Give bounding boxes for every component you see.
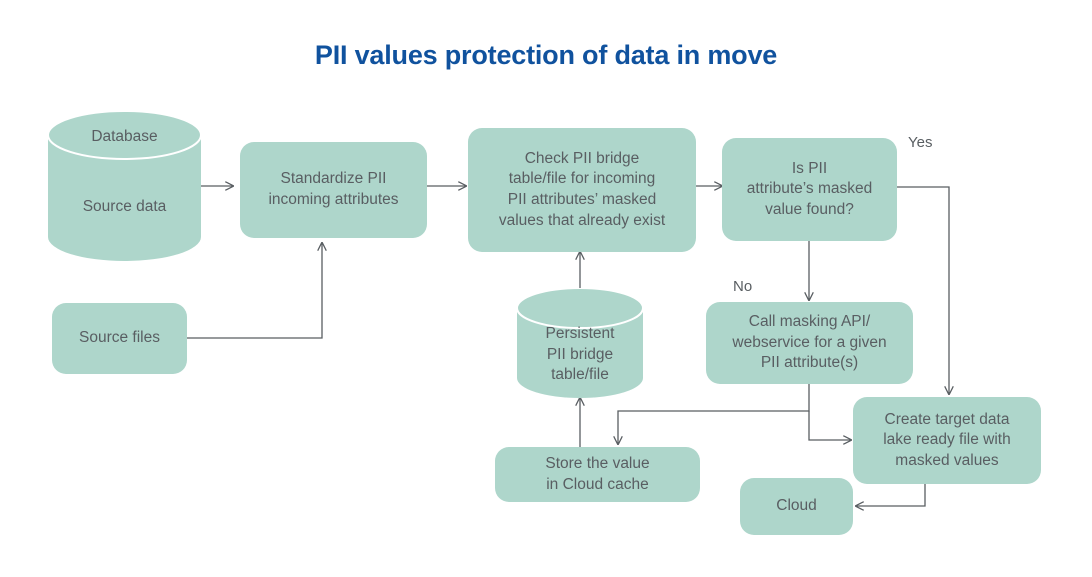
node-call-masking-api[interactable]: Call masking API/ webservice for a given… bbox=[706, 302, 913, 384]
edge-create-to-cloud bbox=[856, 484, 925, 506]
node-standardize[interactable]: Standardize PII incoming attributes bbox=[240, 142, 427, 238]
edge-callmasking-to-store bbox=[618, 384, 809, 444]
node-store-cloud-cache[interactable]: Store the value in Cloud cache bbox=[495, 447, 700, 502]
edge-callmasking-to-create bbox=[809, 411, 851, 440]
source-database-top-label: Database bbox=[48, 127, 201, 148]
flowchart-canvas: PII values protection of data in move bbox=[0, 0, 1092, 577]
node-decision-masked-found[interactable]: Is PII attribute’s masked value found? bbox=[722, 138, 897, 241]
source-database-body-label: Source data bbox=[48, 197, 201, 218]
node-source-database[interactable]: Database Source data bbox=[48, 111, 201, 261]
edge-label-no: No bbox=[733, 278, 752, 295]
edge-sourcefiles-to-standardize bbox=[187, 243, 322, 338]
page-title: PII values protection of data in move bbox=[0, 40, 1092, 71]
node-cloud[interactable]: Cloud bbox=[740, 478, 853, 535]
persistent-bridge-label: Persistent PII bridge table/file bbox=[517, 324, 643, 386]
edge-label-yes: Yes bbox=[908, 134, 932, 151]
node-check-bridge[interactable]: Check PII bridge table/file for incoming… bbox=[468, 128, 696, 252]
node-create-target-file[interactable]: Create target data lake ready file with … bbox=[853, 397, 1041, 484]
node-source-files[interactable]: Source files bbox=[52, 303, 187, 374]
node-persistent-bridge[interactable]: Persistent PII bridge table/file bbox=[517, 288, 643, 398]
